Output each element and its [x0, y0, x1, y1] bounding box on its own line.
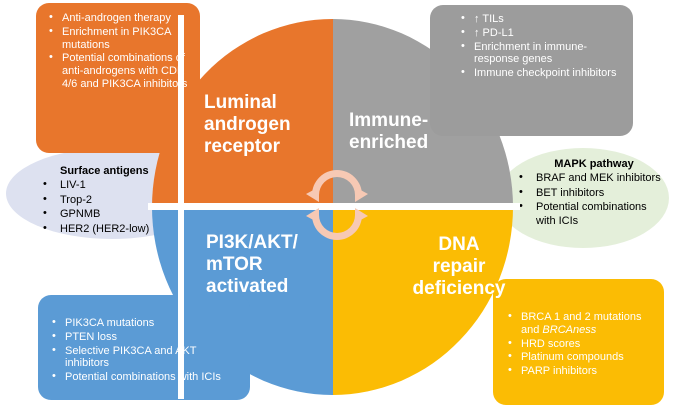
quadrant-label-luminal-androgen-receptor: Luminalandrogenreceptor [204, 92, 336, 158]
callout-pi3k-akt-mtor: PIK3CA mutations PTEN loss Selective PIK… [38, 295, 250, 400]
list-item: PTEN loss [52, 331, 240, 344]
immune-content: ↑ TILs ↑ PD-L1 Enrichment in immune-resp… [430, 5, 633, 80]
callout-mapk-pathway: MAPK pathway BRAF and MEK inhibitors BET… [497, 148, 669, 248]
quadrant-label-immune-enriched: Immune-enriched [349, 110, 489, 154]
list-item: BRAF and MEK inhibitors [519, 172, 661, 185]
lar-content: Anti-androgen therapy Enrichment in PIK3… [36, 3, 200, 91]
pi3k-content: PIK3CA mutations PTEN loss Selective PIK… [38, 295, 250, 384]
list-item: Enrichment in immune-response genes [461, 41, 623, 67]
list-item: ↑ PD-L1 [461, 27, 623, 40]
lar-list: Anti-androgen therapy Enrichment in PIK3… [49, 12, 190, 91]
list-item: BET inhibitors [519, 187, 661, 200]
list-item: HRD scores [508, 338, 656, 351]
cycle-arrows-icon [306, 161, 368, 249]
diagram-canvas: Luminalandrogenreceptor Immune-enriched … [0, 0, 673, 411]
callout-luminal-androgen-receptor: Anti-androgen therapy Enrichment in PIK3… [36, 3, 200, 153]
list-item: Potential combinations of anti-androgens… [49, 52, 190, 90]
list-item: Selective PIK3CA and AKT inhibitors [52, 345, 240, 371]
dna-list: BRCA 1 and 2 mutations and BRCAness HRD … [508, 311, 656, 378]
quadrant-label-dna-repair-deficiency: DNArepairdeficiency [399, 234, 519, 300]
list-item: PARP inhibitors [508, 365, 656, 378]
pi3k-list: PIK3CA mutations PTEN loss Selective PIK… [52, 317, 240, 384]
list-item: BRCA 1 and 2 mutations and BRCAness [508, 311, 656, 337]
list-item: Platinum compounds [508, 351, 656, 364]
mapk-content: MAPK pathway BRAF and MEK inhibitors BET… [497, 148, 669, 228]
list-item: Enrichment in PIK3CA mutations [49, 26, 190, 52]
list-item: Anti-androgen therapy [49, 12, 190, 25]
mapk-heading: MAPK pathway [519, 158, 661, 171]
list-item: PIK3CA mutations [52, 317, 240, 330]
list-item: ↑ TILs [461, 13, 623, 26]
list-item-emphasis: BRCAness [542, 324, 596, 336]
list-item: Potential combinations with ICIs [519, 201, 661, 228]
list-item: Potential combinations with ICIs [52, 371, 240, 384]
immune-list: ↑ TILs ↑ PD-L1 Enrichment in immune-resp… [461, 13, 623, 80]
list-item: Immune checkpoint inhibitors [461, 67, 623, 80]
mapk-list: BRAF and MEK inhibitors BET inhibitors P… [519, 172, 661, 228]
